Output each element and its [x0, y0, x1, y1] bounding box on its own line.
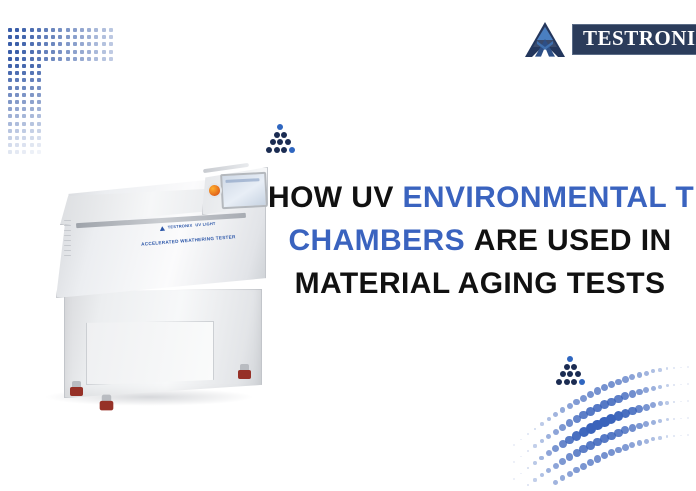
banner-canvas: TESTRONIX HOW UV ENVIRONMENTAL TEST CHAM…: [0, 0, 696, 491]
logo-wordmark: TESTRONIX: [583, 26, 696, 50]
chamber-lower-access-panel: [86, 321, 214, 385]
brand-logo: TESTRONIX: [524, 20, 696, 58]
chamber-touchscreen: [220, 172, 268, 209]
logo-wordmark-box: TESTRONIX: [572, 24, 696, 55]
headline-line-1: HOW UV ENVIRONMENTAL TEST: [268, 176, 692, 219]
caster-front-left: [70, 381, 83, 396]
headline-line-2-black: ARE USED IN: [474, 224, 672, 257]
decal-brand-text: TESTRONIX: [168, 224, 193, 231]
halftone-swoosh-pattern: [506, 351, 696, 491]
decal-pyramid-icon: [159, 226, 165, 231]
chamber-side-vents: [64, 220, 71, 262]
square-grid-pattern: [8, 28, 128, 156]
headline-space-2: [465, 224, 474, 257]
caster-front-right: [100, 395, 114, 411]
decal-uv-light-text: UV LIGHT: [195, 222, 216, 228]
testronix-pyramid-mark-icon: [524, 20, 566, 58]
headline-line-2: CHAMBERS ARE USED IN: [268, 219, 692, 262]
headline-line-2-blue: CHAMBERS: [288, 224, 465, 257]
caster-rear-right: [238, 364, 251, 379]
headline-line-3-black: MATERIAL AGING TESTS: [295, 267, 666, 300]
product-image-uv-chamber: TESTRONIX UV LIGHT ACCELERATED WEATHERIN…: [26, 150, 276, 420]
headline: HOW UV ENVIRONMENTAL TEST CHAMBERS ARE U…: [268, 176, 692, 305]
headline-line-1-blue: ENVIRONMENTAL TEST: [402, 181, 696, 214]
headline-line-3: MATERIAL AGING TESTS: [268, 262, 692, 305]
headline-line-1-black: HOW UV: [268, 181, 394, 214]
